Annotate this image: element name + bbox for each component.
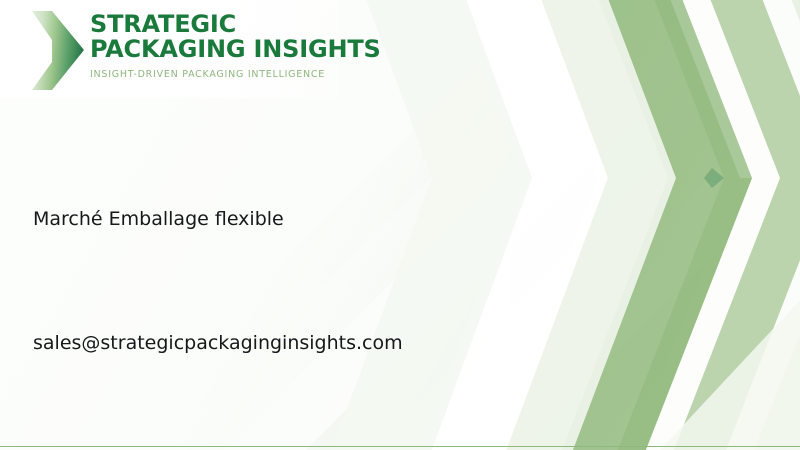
page-title: Marché Emballage flexible <box>33 206 473 232</box>
slide-body: Marché Emballage flexible <box>33 206 473 232</box>
chevron-arrow-icon <box>30 10 86 92</box>
logo-line-strategic: STRATEGIC <box>90 12 350 36</box>
logo-line-packaging-insights: PACKAGING INSIGHTS <box>90 37 350 61</box>
contact-email[interactable]: sales@strategicpackaginginsights.com <box>33 330 403 356</box>
slide-canvas: STRATEGIC PACKAGING INSIGHTS INSIGHT-DRI… <box>0 0 800 450</box>
logo-tagline: INSIGHT-DRIVEN PACKAGING INTELLIGENCE <box>90 69 350 81</box>
brand-logo: STRATEGIC PACKAGING INSIGHTS INSIGHT-DRI… <box>30 8 350 92</box>
bottom-divider-rule <box>0 446 800 447</box>
logo-wordmark: STRATEGIC PACKAGING INSIGHTS INSIGHT-DRI… <box>90 8 350 81</box>
